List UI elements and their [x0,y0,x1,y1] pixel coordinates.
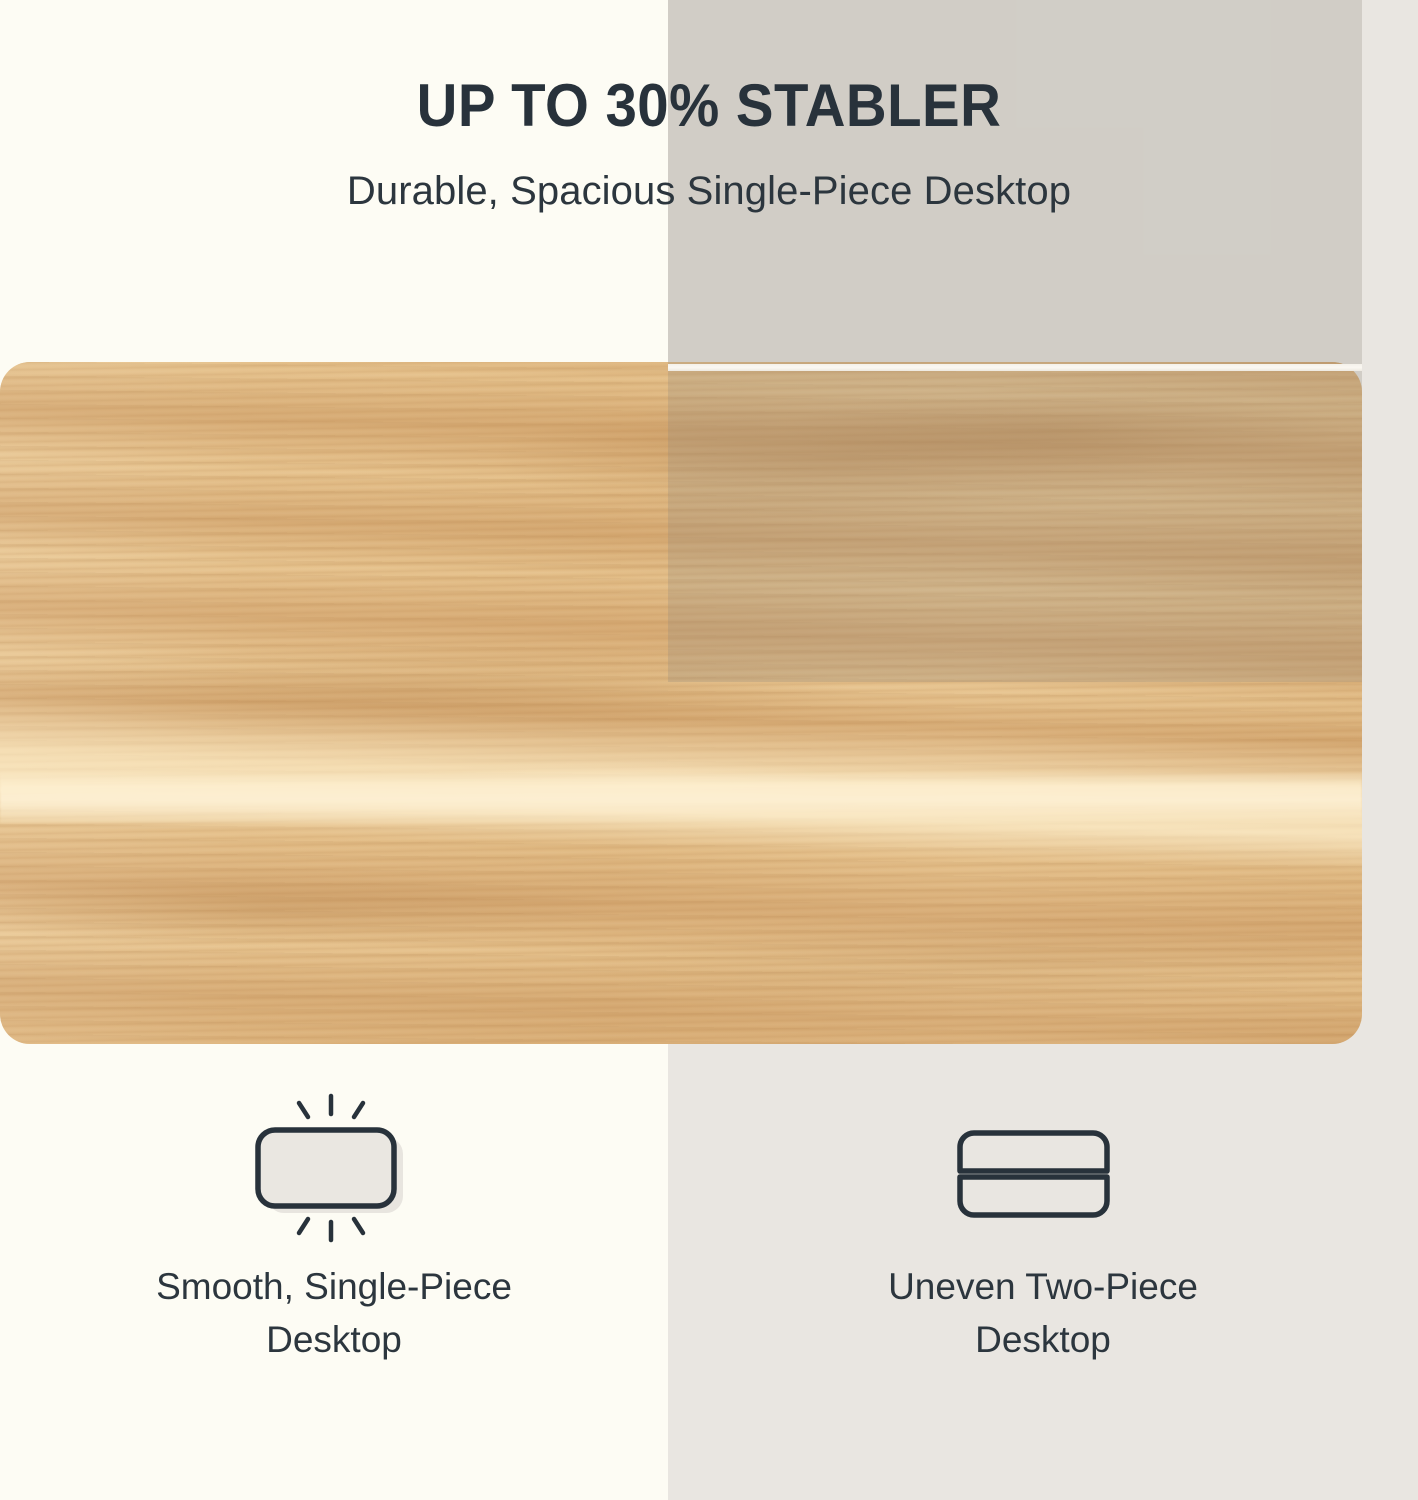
caption-line-1: Uneven Two-Piece [888,1261,1198,1314]
caption-two-piece: Uneven Two-Piece Desktop [888,1261,1198,1366]
caption-line-2: Desktop [156,1314,512,1367]
caption-line-2: Desktop [888,1314,1198,1367]
comparison-column-two-piece: Uneven Two-Piece Desktop [668,1086,1418,1486]
infographic-root: UP TO 30% STABLER Durable, Spacious Sing… [0,0,1418,1500]
lower-slab [960,1177,1107,1215]
page-title: UP TO 30% STABLER [43,74,1376,137]
upper-slab [960,1133,1107,1171]
single-slab-sparkle-icon [239,1089,429,1259]
comparison-column-single-piece: Smooth, Single-Piece Desktop [0,1086,668,1486]
header-block: UP TO 30% STABLER Durable, Spacious Sing… [0,0,1418,215]
two-slab-icon-slot [948,1086,1138,1261]
slab-body [258,1130,394,1206]
comparison-columns: Smooth, Single-Piece Desktop Uneven Two-… [0,1086,1418,1486]
two-stacked-slabs-icon [948,1089,1138,1259]
two-piece-seam-line [668,364,1362,371]
caption-single-piece: Smooth, Single-Piece Desktop [156,1261,512,1366]
single-slab-icon-slot [239,1086,429,1261]
caption-line-1: Smooth, Single-Piece [156,1261,512,1314]
wood-sapwood-band [0,771,1362,823]
page-subtitle: Durable, Spacious Single-Piece Desktop [0,167,1418,215]
